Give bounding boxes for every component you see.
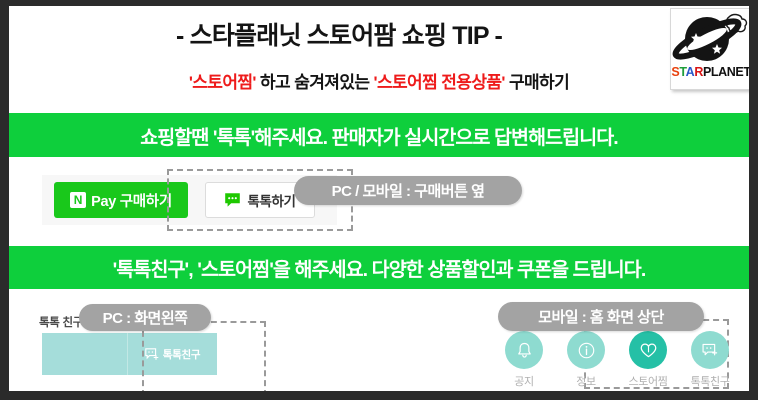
mobile-icon-notice[interactable]: 공지 bbox=[494, 331, 554, 391]
subtitle-highlight-2: '스토어찜 전용상품' bbox=[374, 73, 505, 92]
store-like-circle bbox=[629, 331, 667, 369]
logo-wordmark: STARPLANET bbox=[671, 65, 751, 79]
callout-pc-left: PC : 화면왼쪽 bbox=[79, 304, 211, 331]
info-circle bbox=[567, 331, 605, 369]
highlight-box-pc-friend bbox=[142, 321, 266, 396]
naver-n-icon: N bbox=[70, 192, 86, 208]
chat-plus-icon bbox=[700, 341, 720, 360]
callout-mobile-top: 모바일 : 홈 화면 상단 bbox=[498, 302, 704, 331]
mobile-icon-talk-friend[interactable]: 톡톡친구 bbox=[680, 331, 740, 391]
logo-letter-r: R bbox=[694, 65, 703, 79]
subtitle-highlight-1: '스토어찜' bbox=[189, 73, 256, 92]
notice-caption: 공지 bbox=[514, 373, 533, 389]
infographic-page: - 스타플래닛 스토어팜 쇼핑 TIP - '스토어찜' 하고 숨겨져있는 '스… bbox=[0, 0, 758, 400]
callout-mobile-top-text: 모바일 : 홈 화면 상단 bbox=[538, 306, 664, 327]
logo-letters-planet: PLANET bbox=[703, 65, 751, 79]
npay-buy-label: Pay 구매하기 bbox=[91, 190, 172, 211]
bell-icon bbox=[515, 341, 534, 360]
infographic-inner: - 스타플래닛 스토어팜 쇼핑 TIP - '스토어찜' 하고 숨겨져있는 '스… bbox=[9, 6, 749, 391]
mobile-icon-info[interactable]: 정보 bbox=[556, 331, 616, 391]
subtitle-plain-2: 구매하기 bbox=[505, 73, 569, 92]
callout-pc-mobile: PC / 모바일 : 구매버튼 옆 bbox=[294, 176, 522, 205]
starplanet-logo: STARPLANET bbox=[670, 8, 752, 90]
banner-friend-tip: '톡톡친구', '스토어찜'을 해주세요. 다양한 상품할인과 쿠폰을 드립니다… bbox=[9, 246, 749, 289]
callout-pc-mobile-text: PC / 모바일 : 구매버튼 옆 bbox=[332, 180, 485, 201]
planet-icon bbox=[671, 11, 751, 65]
heart-icon bbox=[638, 340, 659, 361]
talk-friend-caption: 톡톡친구 bbox=[691, 373, 730, 389]
talk-friend-circle bbox=[691, 331, 729, 369]
talk-friend-widget-left bbox=[42, 333, 127, 375]
page-subtitle: '스토어찜' 하고 숨겨져있는 '스토어찜 전용상품' 구매하기 bbox=[9, 68, 749, 93]
banner-talk-tip: 쇼핑할땐 '톡톡'해주세요. 판매자가 실시간으로 답변해드립니다. bbox=[9, 113, 749, 157]
banner-text: '톡톡친구', '스토어찜'을 해주세요. 다양한 상품할인과 쿠폰을 드립니다… bbox=[113, 253, 646, 282]
subtitle-plain-1: 하고 숨겨져있는 bbox=[256, 73, 374, 92]
info-icon bbox=[577, 341, 596, 360]
banner-text: 쇼핑할땐 '톡톡'해주세요. 판매자가 실시간으로 답변해드립니다. bbox=[140, 121, 618, 150]
info-caption: 정보 bbox=[576, 373, 595, 389]
notice-circle bbox=[505, 331, 543, 369]
callout-pc-left-text: PC : 화면왼쪽 bbox=[103, 307, 188, 328]
header: - 스타플래닛 스토어팜 쇼핑 TIP - '스토어찜' 하고 숨겨져있는 '스… bbox=[9, 6, 749, 113]
mobile-icon-row: 공지 정보 bbox=[494, 331, 742, 391]
mobile-icon-store-like[interactable]: 스토어찜 bbox=[618, 331, 678, 391]
page-title: - 스타플래닛 스토어팜 쇼핑 TIP - bbox=[9, 16, 669, 52]
store-like-caption: 스토어찜 bbox=[629, 373, 668, 389]
talk-friend-label: 톡톡 친구 bbox=[39, 314, 83, 330]
